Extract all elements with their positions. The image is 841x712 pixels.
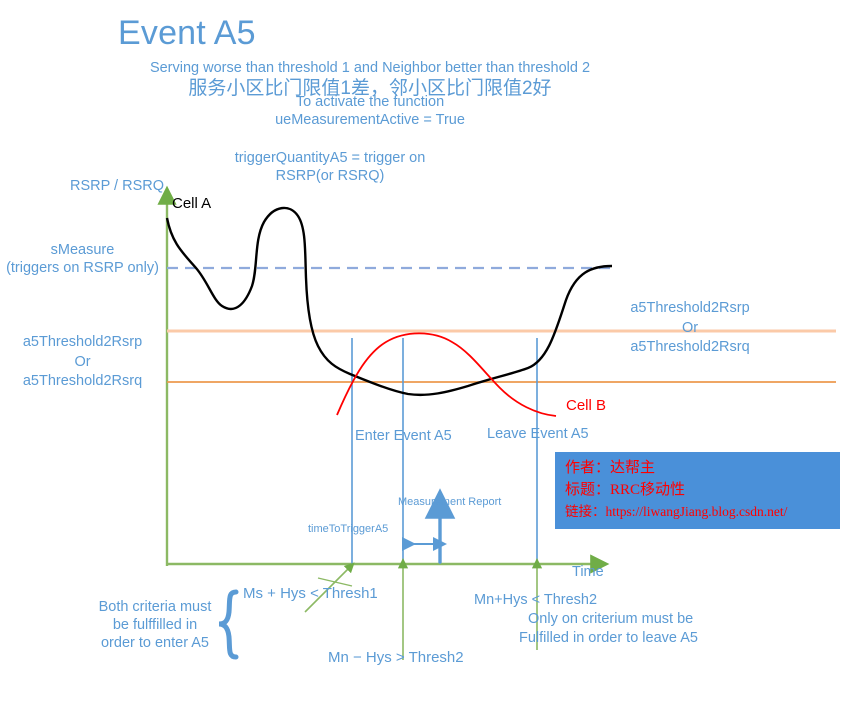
left-threshold-line1: a5Threshold2Rsrp bbox=[0, 334, 165, 350]
trigger-quantity-line1: triggerQuantityA5 = trigger on bbox=[180, 150, 480, 166]
enter-criteria-line1: Both criteria must bbox=[90, 599, 220, 615]
right-threshold-line1: a5Threshold2Rsrp bbox=[590, 300, 790, 316]
diagram-canvas: Event A5 Serving worse than threshold 1 … bbox=[0, 0, 841, 712]
page-title: Event A5 bbox=[118, 14, 256, 52]
enter-criteria-brace bbox=[219, 592, 236, 657]
subtitle-english: Serving worse than threshold 1 and Neigh… bbox=[60, 60, 680, 76]
watermark-title-label: 标题： bbox=[565, 482, 610, 498]
leave-criterion: Mn+Hys < Thresh2 bbox=[474, 592, 597, 608]
activate-function-line1: To activate the function bbox=[160, 94, 580, 110]
cell-b-label: Cell B bbox=[566, 398, 606, 415]
watermark-author-value: 达帮主 bbox=[610, 460, 655, 476]
watermark-link-label: 链接： bbox=[565, 504, 606, 519]
leave-event-label: Leave Event A5 bbox=[487, 426, 589, 442]
right-threshold-line2: Or bbox=[590, 320, 790, 336]
time-to-trigger-label: timeToTriggerA5 bbox=[308, 523, 388, 535]
cell-a-curve bbox=[167, 208, 612, 395]
x-axis-label: Time bbox=[572, 564, 604, 580]
right-threshold-line3: a5Threshold2Rsrq bbox=[590, 339, 790, 355]
trigger-quantity-line2: RSRP(or RSRQ) bbox=[180, 168, 480, 184]
cell-a-label: Cell A bbox=[172, 196, 211, 213]
leave-criteria-line1: Only on criterium must be bbox=[528, 611, 693, 627]
watermark-link-row: 链接：https://liwangJiang.blog.csdn.net/ bbox=[565, 502, 830, 522]
left-threshold-line3: a5Threshold2Rsrq bbox=[0, 373, 165, 389]
enter-event-label: Enter Event A5 bbox=[355, 428, 452, 444]
criterion-ms: Ms + Hys < Thresh1 bbox=[243, 586, 378, 603]
left-threshold-line2: Or bbox=[0, 354, 165, 370]
y-axis-label: RSRP / RSRQ bbox=[70, 178, 164, 194]
enter-criteria-line3: order to enter A5 bbox=[90, 635, 220, 651]
watermark-title-row: 标题：RRC移动性 bbox=[565, 480, 830, 502]
watermark-link-value[interactable]: https://liwangJiang.blog.csdn.net/ bbox=[606, 504, 788, 519]
activate-function-line2: ueMeasurementActive = True bbox=[160, 112, 580, 128]
measurement-report-label: Measurement Report bbox=[398, 496, 501, 508]
watermark-title-value: RRC移动性 bbox=[610, 482, 685, 498]
leave-criteria-line2: Fulfilled in order to leave A5 bbox=[519, 630, 698, 646]
enter-criteria-line2: be fulffilled in bbox=[90, 617, 220, 633]
smeasure-label-line2: (triggers on RSRP only) bbox=[0, 260, 165, 276]
smeasure-label-line1: sMeasure bbox=[0, 242, 165, 258]
cell-b-curve bbox=[337, 333, 556, 416]
criterion-mn: Mn − Hys > Thresh2 bbox=[328, 650, 464, 667]
watermark-author-label: 作者： bbox=[565, 460, 610, 476]
watermark-box: 作者：达帮主 标题：RRC移动性 链接：https://liwangJiang.… bbox=[555, 452, 840, 529]
watermark-author-row: 作者：达帮主 bbox=[565, 458, 830, 480]
